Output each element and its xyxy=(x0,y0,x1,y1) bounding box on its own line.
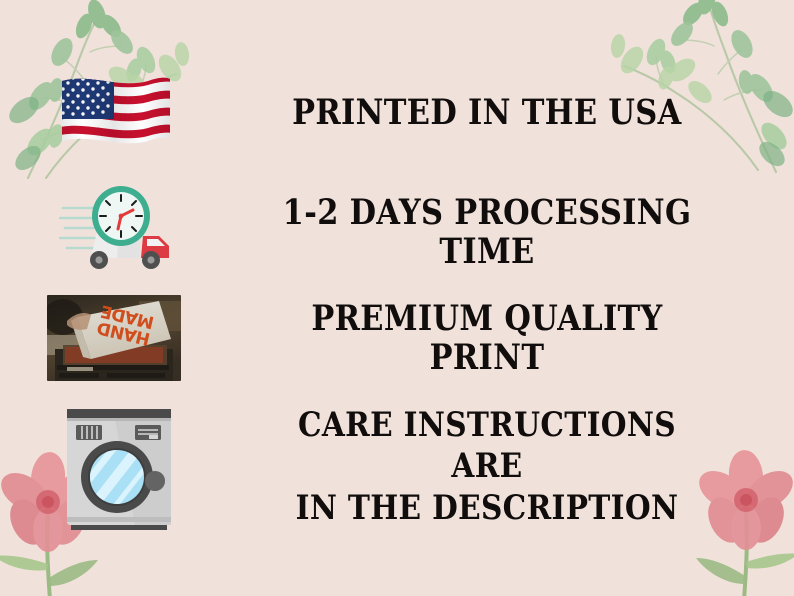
headline-care-instructions: CARE INSTRUCTIONS ARE IN THE DESCRIPTION xyxy=(265,405,709,529)
text-cell-care-instructions: CARE INSTRUCTIONS ARE IN THE DESCRIPTION xyxy=(232,405,794,529)
icon-cell-premium-quality: HAND MADE xyxy=(0,295,232,381)
washing-machine-icon xyxy=(63,401,177,533)
feature-row-processing-time: 1-2 DAYS PROCESSING TIME xyxy=(0,178,794,286)
headline-processing-time: 1-2 DAYS PROCESSING TIME xyxy=(265,193,709,271)
us-flag-icon xyxy=(56,67,176,159)
feature-row-care-instructions: CARE INSTRUCTIONS ARE IN THE DESCRIPTION xyxy=(0,392,794,542)
icon-cell-processing-time xyxy=(0,184,232,280)
headline-printed-in-usa: PRINTED IN THE USA xyxy=(292,93,682,132)
feature-row-premium-quality: HAND MADE PREMIUM QUALITY PRINT xyxy=(0,288,794,388)
graphic-canvas: PRINTED IN THE USA xyxy=(0,0,794,596)
printing-press-photo: HAND MADE xyxy=(47,295,181,381)
text-cell-processing-time: 1-2 DAYS PROCESSING TIME xyxy=(232,193,794,271)
fast-delivery-truck-clock-icon xyxy=(59,184,183,280)
text-cell-premium-quality: PREMIUM QUALITY PRINT xyxy=(232,299,794,377)
feature-row-printed-in-usa: PRINTED IN THE USA xyxy=(0,58,794,168)
icon-cell-printed-in-usa xyxy=(0,67,232,159)
headline-premium-quality: PREMIUM QUALITY PRINT xyxy=(265,299,709,377)
icon-cell-care-instructions xyxy=(0,401,232,533)
text-cell-printed-in-usa: PRINTED IN THE USA xyxy=(232,93,794,132)
